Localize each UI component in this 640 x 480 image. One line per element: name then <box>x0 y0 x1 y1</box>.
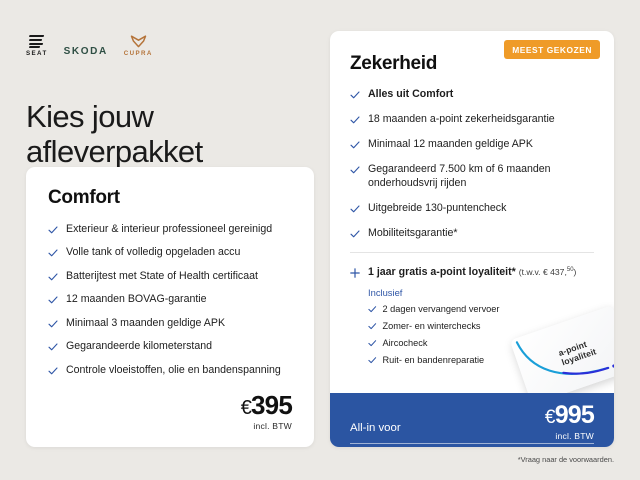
offer-page: SEAT SKODA CUPRA Kies jouw afleverpakket… <box>0 0 640 480</box>
price-value: 395 <box>251 390 292 420</box>
allin-price: €995 incl. BTW <box>545 403 594 441</box>
zekerheid-feature-list: Alles uit Comfort 18 maanden a-point zek… <box>350 88 594 241</box>
list-item-label: Aircocheck <box>383 338 428 350</box>
check-icon <box>350 165 360 175</box>
status-badge: MEEST GEKOZEN <box>504 40 600 59</box>
currency-symbol: € <box>241 397 251 419</box>
bonus-note-prefix: (t.w.v. € 437, <box>519 267 567 277</box>
check-icon <box>368 322 377 331</box>
check-icon <box>350 204 360 214</box>
list-item: Batterijtest met State of Health certifi… <box>48 270 292 284</box>
included-list: 2 dagen vervangend vervoer Zomer- en win… <box>368 304 594 367</box>
included-block: Inclusief 2 dagen vervangend vervoer Zom… <box>368 287 594 367</box>
allin-price-footer: All-in voor €995 incl. BTW <box>330 393 614 447</box>
list-item-label: Minimaal 3 maanden geldige APK <box>66 317 225 331</box>
list-item: Controle vloeistoffen, olie en bandenspa… <box>48 364 292 378</box>
list-item-label: Alles uit Comfort <box>368 88 453 102</box>
included-title: Inclusief <box>368 287 594 298</box>
list-item: Minimaal 12 maanden geldige APK <box>350 138 594 152</box>
list-item-label: Gegarandeerde kilometerstand <box>66 340 212 354</box>
check-icon <box>350 229 360 239</box>
page-title: Kies jouw afleverpakket <box>26 99 203 170</box>
seat-logo-icon <box>29 35 44 48</box>
list-item: Gegarandeerd 7.500 km of 6 maanden onder… <box>350 163 594 191</box>
list-item-label: Ruit- en bandenreparatie <box>383 355 485 367</box>
currency-symbol: € <box>545 407 555 428</box>
check-icon <box>48 248 58 258</box>
skoda-logo-wordmark: SKODA <box>64 47 108 57</box>
price-value: 995 <box>555 401 594 429</box>
list-item: Mobiliteitsgarantie* <box>350 227 594 241</box>
list-item-label: 18 maanden a-point zekerheidsgarantie <box>368 113 555 127</box>
list-item-label: 2 dagen vervangend vervoer <box>383 304 500 316</box>
cupra-logo: CUPRA <box>124 35 153 57</box>
list-item-label: Volle tank of volledig opgeladen accu <box>66 246 240 260</box>
list-item: 18 maanden a-point zekerheidsgarantie <box>350 113 594 127</box>
check-icon <box>368 356 377 365</box>
list-item: 2 dagen vervangend vervoer <box>368 304 594 316</box>
check-icon <box>48 272 58 282</box>
list-item: Volle tank of volledig opgeladen accu <box>48 246 292 260</box>
list-item-label: Mobiliteitsgarantie* <box>368 227 458 241</box>
check-icon <box>350 115 360 125</box>
allin-label: All-in voor <box>350 422 401 441</box>
footnote: *Vraag naar de voorwaarden. <box>518 455 614 464</box>
list-item-label: Zomer- en winterchecks <box>383 321 481 333</box>
plus-icon <box>350 268 360 278</box>
list-item: Alles uit Comfort <box>350 88 594 102</box>
list-item-label: Uitgebreide 130-puntencheck <box>368 202 506 216</box>
check-icon <box>350 90 360 100</box>
bonus-text: 1 jaar gratis a-point loyaliteit*(t.w.v.… <box>368 266 576 278</box>
list-item-label: Minimaal 12 maanden geldige APK <box>368 138 533 152</box>
check-icon <box>368 339 377 348</box>
check-icon <box>48 225 58 235</box>
skoda-logo: SKODA <box>64 47 108 57</box>
comfort-price-amount: €395 <box>241 392 292 418</box>
list-item-label: Batterijtest met State of Health certifi… <box>66 270 258 284</box>
bonus-note-suffix: ) <box>574 267 577 277</box>
comfort-feature-list: Exterieur & interieur professioneel gere… <box>48 223 292 378</box>
section-divider <box>350 252 594 253</box>
check-icon <box>48 319 58 329</box>
comfort-title: Comfort <box>48 187 292 209</box>
bonus-row: 1 jaar gratis a-point loyaliteit*(t.w.v.… <box>350 266 594 278</box>
check-icon <box>350 140 360 150</box>
list-item-label: Controle vloeistoffen, olie en bandenspa… <box>66 364 281 378</box>
package-card-zekerheid[interactable]: MEEST GEKOZEN Zekerheid Alles uit Comfor… <box>330 31 614 447</box>
list-item-label: 12 maanden BOVAG-garantie <box>66 293 207 307</box>
list-item: Gegarandeerde kilometerstand <box>48 340 292 354</box>
comfort-price-note: incl. BTW <box>241 421 292 431</box>
comfort-price: €395 incl. BTW <box>241 392 292 431</box>
allin-price-amount: €995 <box>545 403 594 428</box>
list-item: Exterieur & interieur professioneel gere… <box>48 223 292 237</box>
list-item: Zomer- en winterchecks <box>368 321 594 333</box>
list-item: Ruit- en bandenreparatie <box>368 355 594 367</box>
list-item-label: Exterieur & interieur professioneel gere… <box>66 223 272 237</box>
footer-rule <box>350 443 594 444</box>
allin-price-row: All-in voor €995 incl. BTW <box>350 393 594 441</box>
check-icon <box>48 295 58 305</box>
seat-logo: SEAT <box>26 35 48 57</box>
check-icon <box>368 305 377 314</box>
list-item: Minimaal 3 maanden geldige APK <box>48 317 292 331</box>
list-item: Aircocheck <box>368 338 594 350</box>
bonus-label: 1 jaar gratis a-point loyaliteit* <box>368 266 516 278</box>
cupra-logo-icon <box>130 35 147 48</box>
allin-price-note: incl. BTW <box>545 431 594 441</box>
list-item-label: Gegarandeerd 7.500 km of 6 maanden onder… <box>368 163 594 191</box>
seat-logo-wordmark: SEAT <box>26 51 48 57</box>
bonus-note-cents: 50 <box>567 267 574 273</box>
bonus-value-note: (t.w.v. € 437,50) <box>519 267 577 277</box>
list-item: Uitgebreide 130-puntencheck <box>350 202 594 216</box>
package-card-comfort[interactable]: Comfort Exterieur & interieur profession… <box>26 167 314 447</box>
list-item: 12 maanden BOVAG-garantie <box>48 293 292 307</box>
check-icon <box>48 342 58 352</box>
cupra-logo-wordmark: CUPRA <box>124 51 153 57</box>
check-icon <box>48 366 58 376</box>
brand-logo-row: SEAT SKODA CUPRA <box>26 33 153 57</box>
